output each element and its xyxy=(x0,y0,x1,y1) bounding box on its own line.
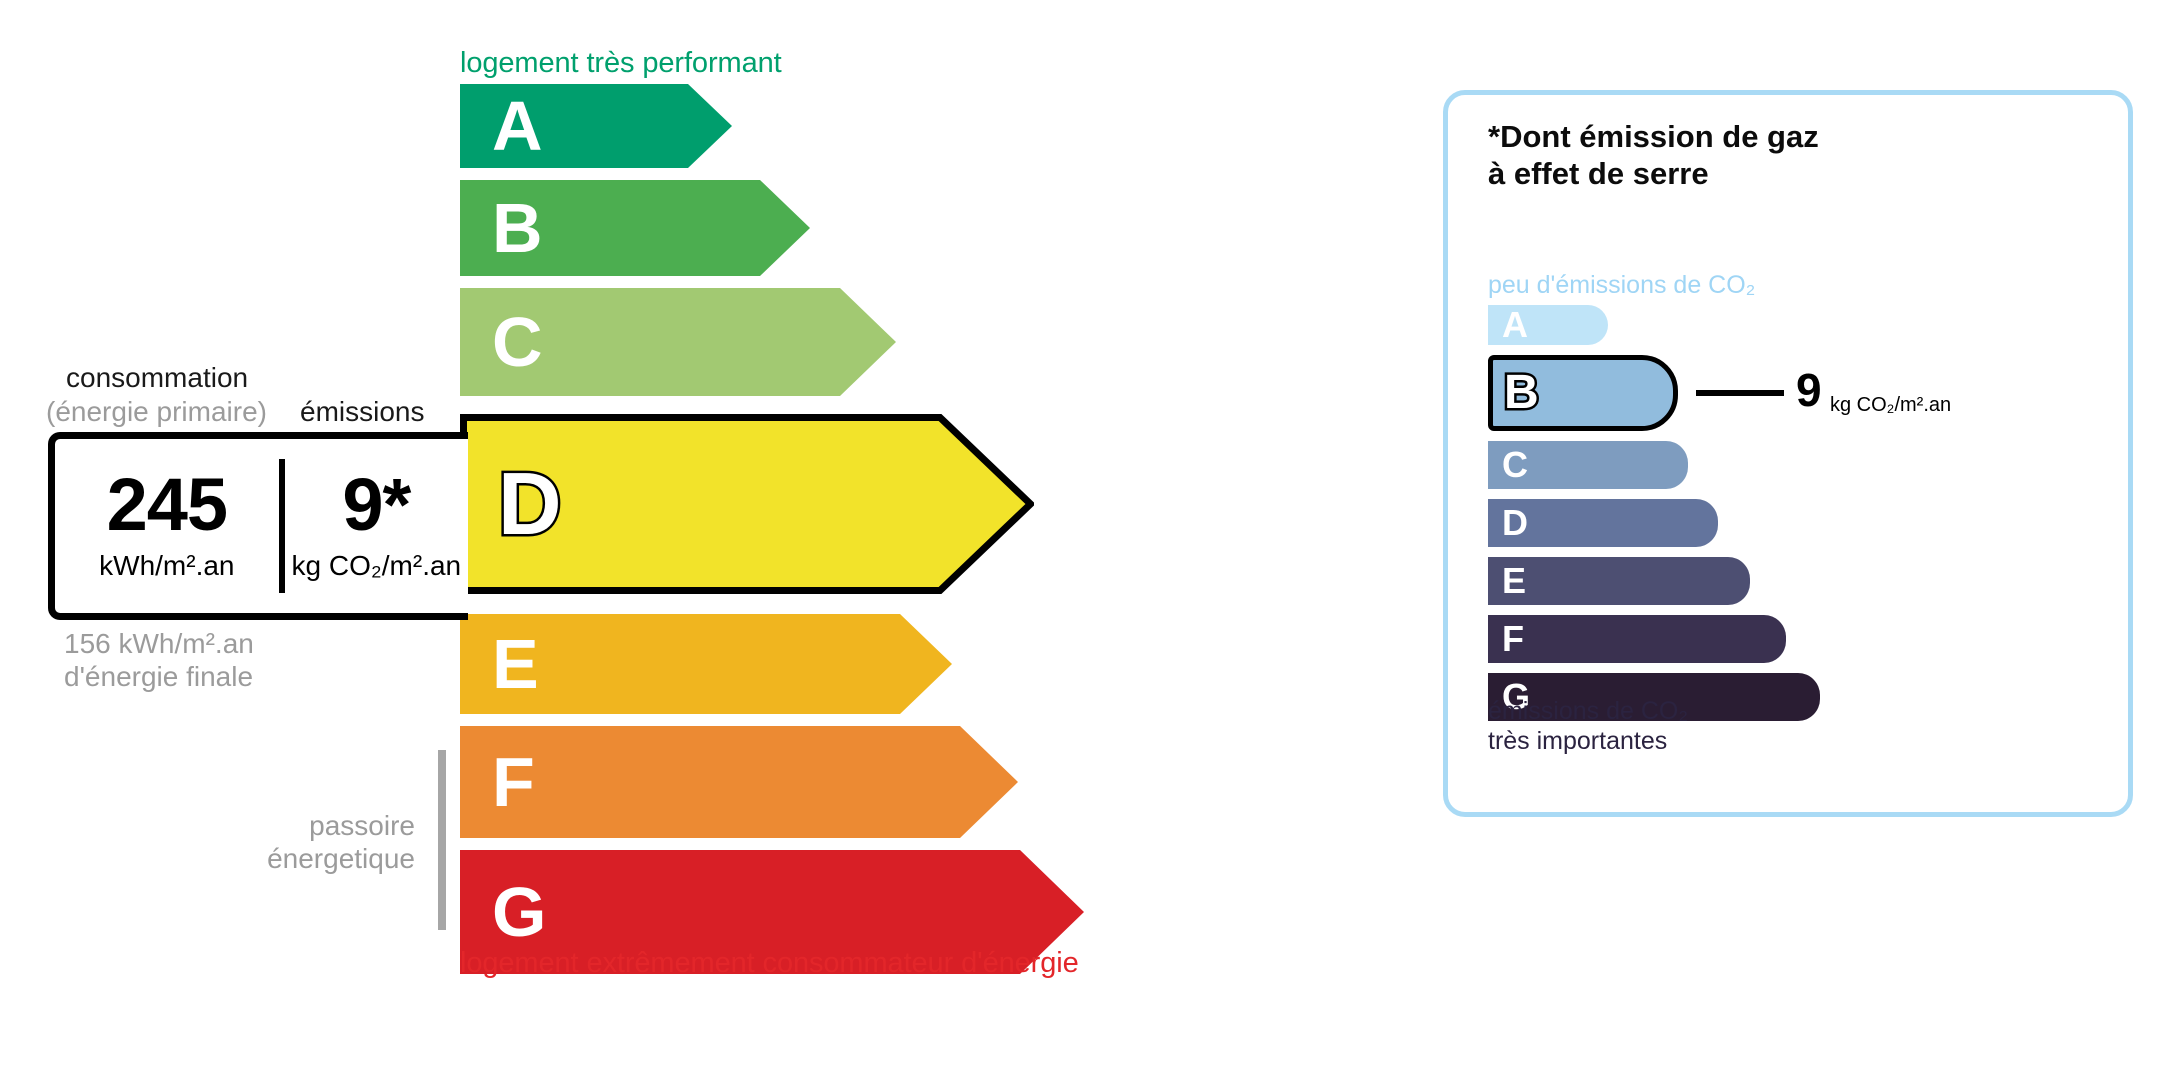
co2-bar-e xyxy=(1488,557,1750,605)
co2-top-caption: peu d'émissions de CO₂ xyxy=(1488,271,1755,300)
energy-class-row-b: B xyxy=(460,180,810,276)
co2-class-letter-b: B xyxy=(1504,369,1539,417)
label-energie-primaire: (énergie primaire) xyxy=(46,396,267,428)
co2-current-value-unit: kg CO₂/m².an xyxy=(1830,394,1951,417)
energy-class-letter-f: F xyxy=(492,747,535,817)
energy-class-row-d: D xyxy=(460,414,1034,594)
energy-class-letter-d: D xyxy=(498,460,562,548)
energy-class-row-c: C xyxy=(460,288,896,396)
co2-class-row-d: D xyxy=(1488,499,1718,547)
co2-bottom-line2: très importantes xyxy=(1488,727,1688,757)
co2-leader-line xyxy=(1696,390,1784,396)
primary-consumption-unit: kWh/m².an xyxy=(99,550,234,582)
co2-current-value: 9 xyxy=(1796,367,1822,413)
co2-class-letter-d: D xyxy=(1502,505,1528,541)
energy-top-caption: logement très performant xyxy=(460,47,782,80)
energy-arrow-c: C xyxy=(460,288,896,396)
co2-class-letter-e: E xyxy=(1502,563,1526,599)
co2-class-row-b: B xyxy=(1488,355,1678,431)
energy-class-row-a: A xyxy=(460,84,732,168)
co2-class-letter-f: F xyxy=(1502,621,1524,657)
emission-unit: kg CO₂/m².an xyxy=(292,550,462,582)
value-box: 245 kWh/m².an 9* kg CO₂/m².an xyxy=(48,432,468,620)
co2-class-row-c: C xyxy=(1488,441,1688,489)
co2-class-row-e: E xyxy=(1488,557,1750,605)
label-consommation: consommation xyxy=(66,362,248,394)
energy-class-letter-e: E xyxy=(492,629,539,699)
energy-arrow-a: A xyxy=(460,84,732,168)
energy-class-row-e: E xyxy=(460,614,952,714)
final-energy-value: 156 kWh/m².an xyxy=(64,628,254,661)
energy-arrow-e: E xyxy=(460,614,952,714)
co2-bar-f xyxy=(1488,615,1786,663)
co2-class-row-f: F xyxy=(1488,615,1786,663)
energy-class-letter-g: G xyxy=(492,877,546,947)
passoire-label: passoire énergetique xyxy=(185,810,415,876)
energy-bottom-caption: logement extrêmement consommateur d'éner… xyxy=(460,947,1079,980)
passoire-line1: passoire xyxy=(185,810,415,843)
co2-bottom-line1: émissions de CO₂ xyxy=(1488,697,1688,727)
co2-panel-title: *Dont émission de gaz à effet de serre xyxy=(1488,118,1819,192)
energy-class-letter-b: B xyxy=(492,193,543,263)
emission-value: 9* xyxy=(342,470,410,540)
co2-class-letter-c: C xyxy=(1502,447,1528,483)
emission-cell: 9* kg CO₂/m².an xyxy=(285,439,468,613)
energy-arrow-b: B xyxy=(460,180,810,276)
energy-class-letter-a: A xyxy=(492,91,543,161)
final-energy-label: 156 kWh/m².an d'énergie finale xyxy=(64,628,254,694)
label-emissions: émissions xyxy=(300,396,424,428)
primary-consumption-cell: 245 kWh/m².an xyxy=(55,439,279,613)
energy-arrow-f: F xyxy=(460,726,1018,838)
final-energy-sub: d'énergie finale xyxy=(64,661,254,694)
primary-consumption-value: 245 xyxy=(107,470,227,540)
dpe-diagram: logement très performant ABCDEFG logemen… xyxy=(0,0,2170,1079)
co2-bottom-caption: émissions de CO₂ très importantes xyxy=(1488,697,1688,756)
energy-arrow-d: D xyxy=(460,414,1034,594)
co2-class-letter-a: A xyxy=(1502,307,1528,343)
co2-title-line2: à effet de serre xyxy=(1488,155,1819,192)
energy-class-letter-c: C xyxy=(492,307,543,377)
energy-class-row-f: F xyxy=(460,726,1018,838)
passoire-line2: énergetique xyxy=(185,843,415,876)
passoire-bracket-line xyxy=(438,750,446,930)
co2-title-line1: *Dont émission de gaz xyxy=(1488,118,1819,155)
co2-class-row-a: A xyxy=(1488,305,1608,345)
